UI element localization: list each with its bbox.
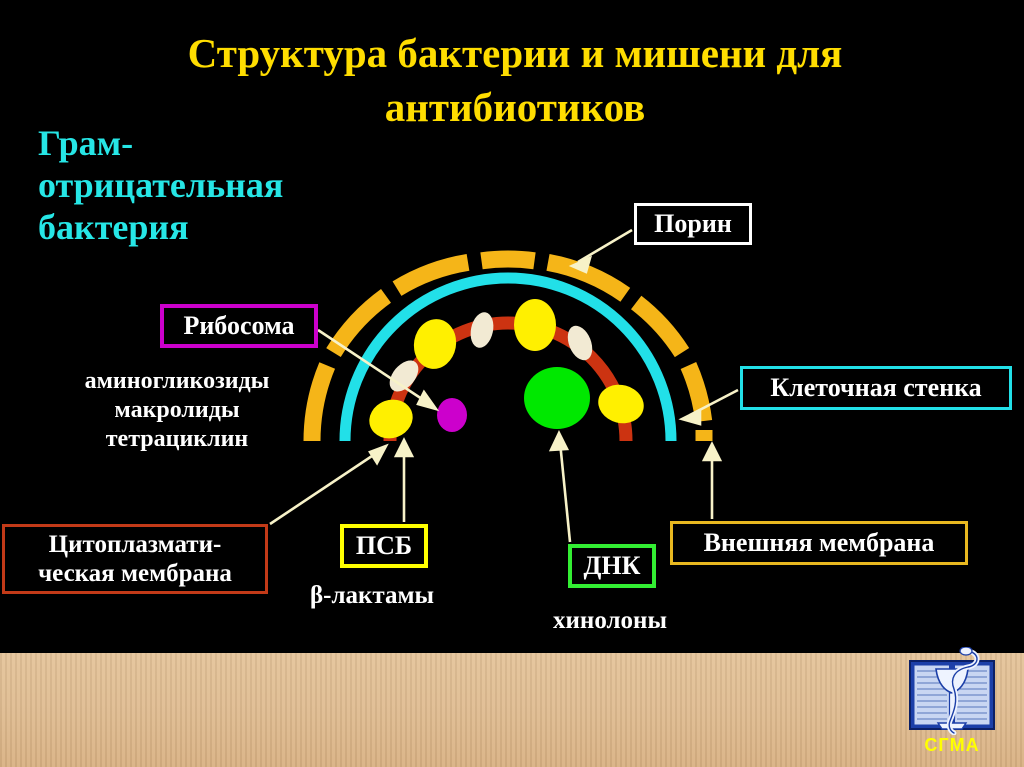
arrow-porin bbox=[572, 230, 632, 272]
logo: СГМА bbox=[906, 647, 998, 765]
outer-membrane-arc bbox=[312, 259, 704, 441]
beta-lactams-label: β-лактамы bbox=[272, 581, 472, 611]
callout-cytoplasmic-membrane-line2: ческая мембрана bbox=[38, 559, 232, 588]
cream-protein-group bbox=[384, 310, 597, 397]
callout-cell-wall[interactable]: Клеточная стенка bbox=[740, 366, 1012, 410]
footer-band bbox=[0, 653, 1024, 767]
callout-cytoplasmic-membrane-line1: Цитоплазмати- bbox=[49, 530, 222, 559]
arrow-dna bbox=[551, 433, 570, 542]
callout-dna[interactable]: ДНК bbox=[568, 544, 656, 588]
arrow-cytoplasmic-membrane bbox=[270, 446, 386, 524]
callout-ribosome[interactable]: Рибосома bbox=[160, 304, 318, 348]
psb-protein-group bbox=[364, 299, 648, 444]
cell-wall-arc bbox=[345, 278, 671, 441]
callout-cytoplasmic-membrane[interactable]: Цитоплазмати- ческая мембрана bbox=[2, 524, 268, 594]
arrow-psb bbox=[396, 440, 412, 522]
cytoplasmic-membrane-arc bbox=[390, 323, 626, 441]
callout-psb[interactable]: ПСБ bbox=[340, 524, 428, 568]
logo-text: СГМА bbox=[906, 735, 998, 756]
callout-outer-membrane[interactable]: Внешняя мембрана bbox=[670, 521, 968, 565]
aminoglycosides-label: аминогликозиды макролиды тетрациклин bbox=[42, 367, 312, 453]
dna-blob bbox=[524, 367, 590, 429]
arrow-outer-membrane bbox=[704, 444, 720, 519]
gram-negative-heading: Грам-отрицательная бактерия bbox=[38, 122, 368, 248]
ribosome-blob bbox=[437, 398, 467, 432]
medical-book-bowl-of-hygieia-icon bbox=[906, 647, 998, 735]
quinolones-label: хинолоны bbox=[510, 606, 710, 636]
slide-canvas: Структура бактерии и мишени для антибиот… bbox=[0, 0, 1024, 767]
arrow-cell-wall bbox=[682, 390, 738, 424]
page-title: Структура бактерии и мишени для антибиот… bbox=[120, 26, 910, 134]
callout-porin[interactable]: Порин bbox=[634, 203, 752, 245]
arrow-ribosome bbox=[318, 330, 436, 409]
leader-arrow-group bbox=[270, 230, 738, 542]
